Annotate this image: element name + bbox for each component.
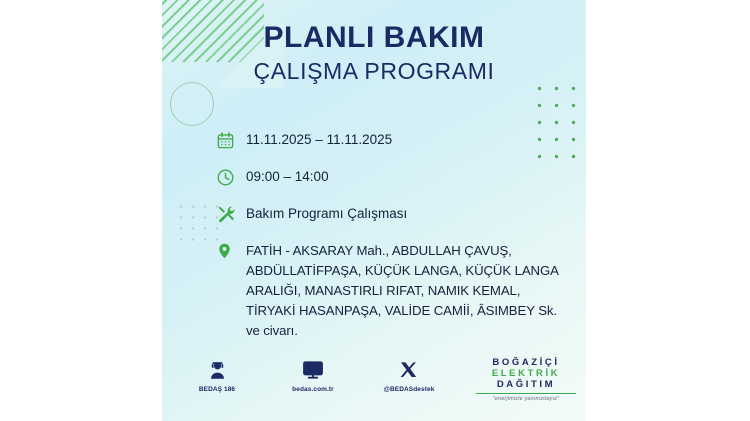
date-range-value: 11.11.2025 – 11.11.2025: [246, 128, 392, 149]
location-pin-icon: [216, 239, 246, 263]
info-row-work-type: Bakım Programı Çalışması: [216, 202, 568, 226]
call-center-agent-icon: [180, 355, 254, 381]
brand-line-3: DAĞITIM: [474, 379, 578, 390]
time-range-value: 09:00 – 14:00: [246, 165, 329, 186]
address-value: FATİH - AKSARAY Mah., ABDULLAH ÇAVUŞ, AB…: [246, 239, 568, 341]
monitor-icon: [276, 355, 350, 381]
info-row-address: FATİH - AKSARAY Mah., ABDULLAH ÇAVUŞ, AB…: [216, 239, 568, 341]
contact-website-label: bedas.com.tr: [276, 386, 350, 393]
contact-x-label: @BEDASdestek: [372, 386, 446, 393]
contact-x-account[interactable]: @BEDASdestek: [372, 355, 446, 393]
grey-dot-grid-decoration: [175, 201, 221, 241]
calendar-icon: [216, 128, 246, 152]
brand-line-1: BOĞAZİÇİ: [474, 357, 578, 368]
brand-line-2: ELEKTRİK: [474, 368, 578, 379]
tools-icon: [216, 202, 246, 226]
brand-tagline: "enerjimizle yanınızdayız": [474, 396, 578, 402]
circle-outline-decoration: [170, 82, 214, 126]
page-title: PLANLI BAKIM: [162, 22, 586, 54]
info-row-date: 11.11.2025 – 11.11.2025: [216, 128, 568, 152]
work-type-value: Bakım Programı Çalışması: [246, 202, 407, 223]
info-list: 11.11.2025 – 11.11.2025 09:00 – 14:00: [216, 128, 568, 354]
company-logo: BOĞAZİÇİ ELEKTRİK DAĞITIM "enerjimizle y…: [474, 357, 578, 402]
card-footer: BEDAŞ 186 bedas.com.tr: [162, 353, 586, 411]
announcement-card: PLANLI BAKIM ÇALIŞMA PROGRAMI: [162, 0, 586, 421]
brand-divider: [476, 393, 576, 394]
screenshot-root: PLANLI BAKIM ÇALIŞMA PROGRAMI: [0, 0, 750, 421]
contact-website[interactable]: bedas.com.tr: [276, 355, 350, 393]
contact-phone-label: BEDAŞ 186: [180, 386, 254, 393]
contact-channels: BEDAŞ 186 bedas.com.tr: [180, 355, 446, 393]
clock-icon: [216, 165, 246, 189]
x-twitter-icon: [372, 355, 446, 381]
page-subtitle: ÇALIŞMA PROGRAMI: [162, 58, 586, 86]
info-row-time: 09:00 – 14:00: [216, 165, 568, 189]
contact-phone[interactable]: BEDAŞ 186: [180, 355, 254, 393]
card-header: PLANLI BAKIM ÇALIŞMA PROGRAMI: [162, 22, 586, 85]
